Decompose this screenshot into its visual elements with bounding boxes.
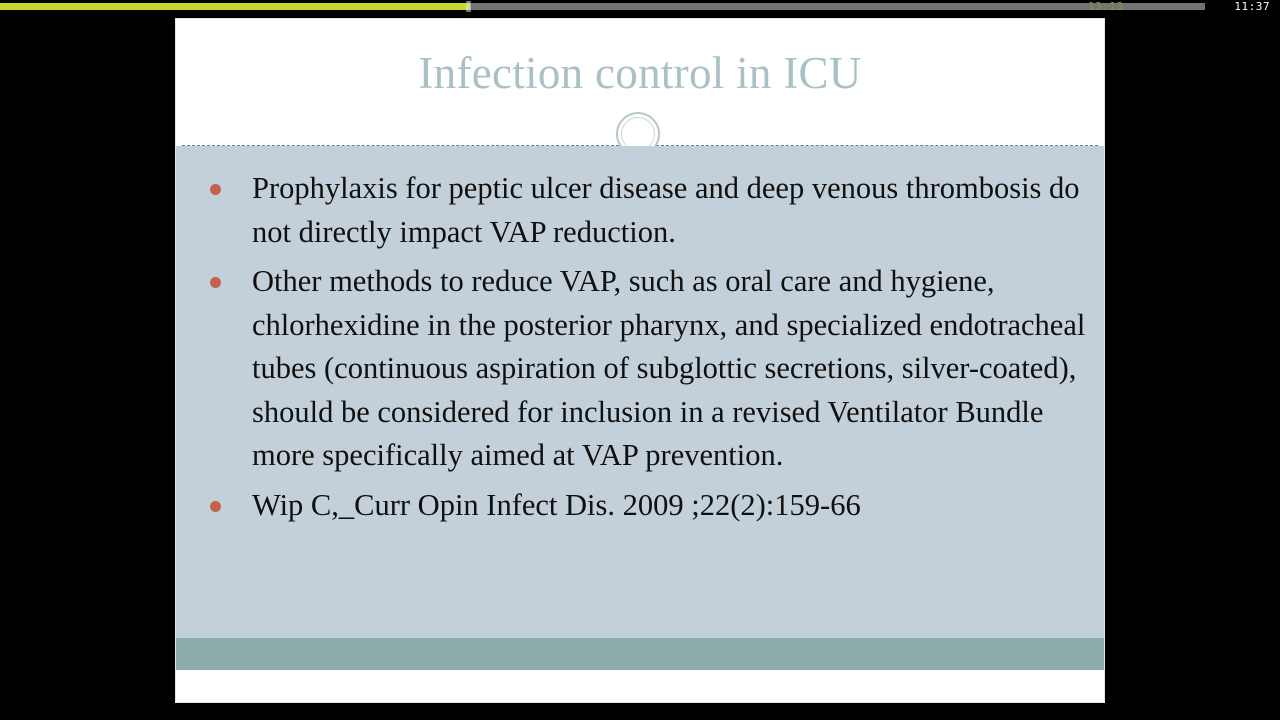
list-item: Prophylaxis for peptic ulcer disease and… — [198, 167, 1088, 254]
duration-time-label: 11:37 — [1234, 0, 1270, 14]
presentation-slide: Infection control in ICU Prophylaxis for… — [176, 19, 1104, 702]
elapsed-time-label: 13:13 — [1088, 0, 1124, 14]
bullet-list: Prophylaxis for peptic ulcer disease and… — [198, 167, 1088, 527]
slide-title: Infection control in ICU — [176, 47, 1104, 99]
list-item: Other methods to reduce VAP, such as ora… — [198, 260, 1088, 478]
bullet-marker-icon — [210, 501, 221, 512]
bullet-marker-icon — [210, 277, 221, 288]
progress-handle[interactable] — [466, 1, 471, 12]
bullet-text: Prophylaxis for peptic ulcer disease and… — [252, 171, 1080, 249]
progress-fill — [0, 3, 470, 10]
video-player: 13:13 11:37 Infection control in ICU Pro… — [0, 0, 1280, 720]
list-item: Wip C,_Curr Opin Infect Dis. 2009 ;22(2)… — [198, 484, 1088, 528]
slide-footer-bar — [176, 638, 1104, 670]
video-progress-bar[interactable]: 13:13 11:37 — [0, 0, 1280, 14]
bullet-text: Other methods to reduce VAP, such as ora… — [252, 264, 1085, 472]
bullet-marker-icon — [210, 184, 221, 195]
citation-text: Wip C,_Curr Opin Infect Dis. 2009 ;22(2)… — [252, 488, 861, 522]
slide-body: Prophylaxis for peptic ulcer disease and… — [176, 146, 1104, 670]
